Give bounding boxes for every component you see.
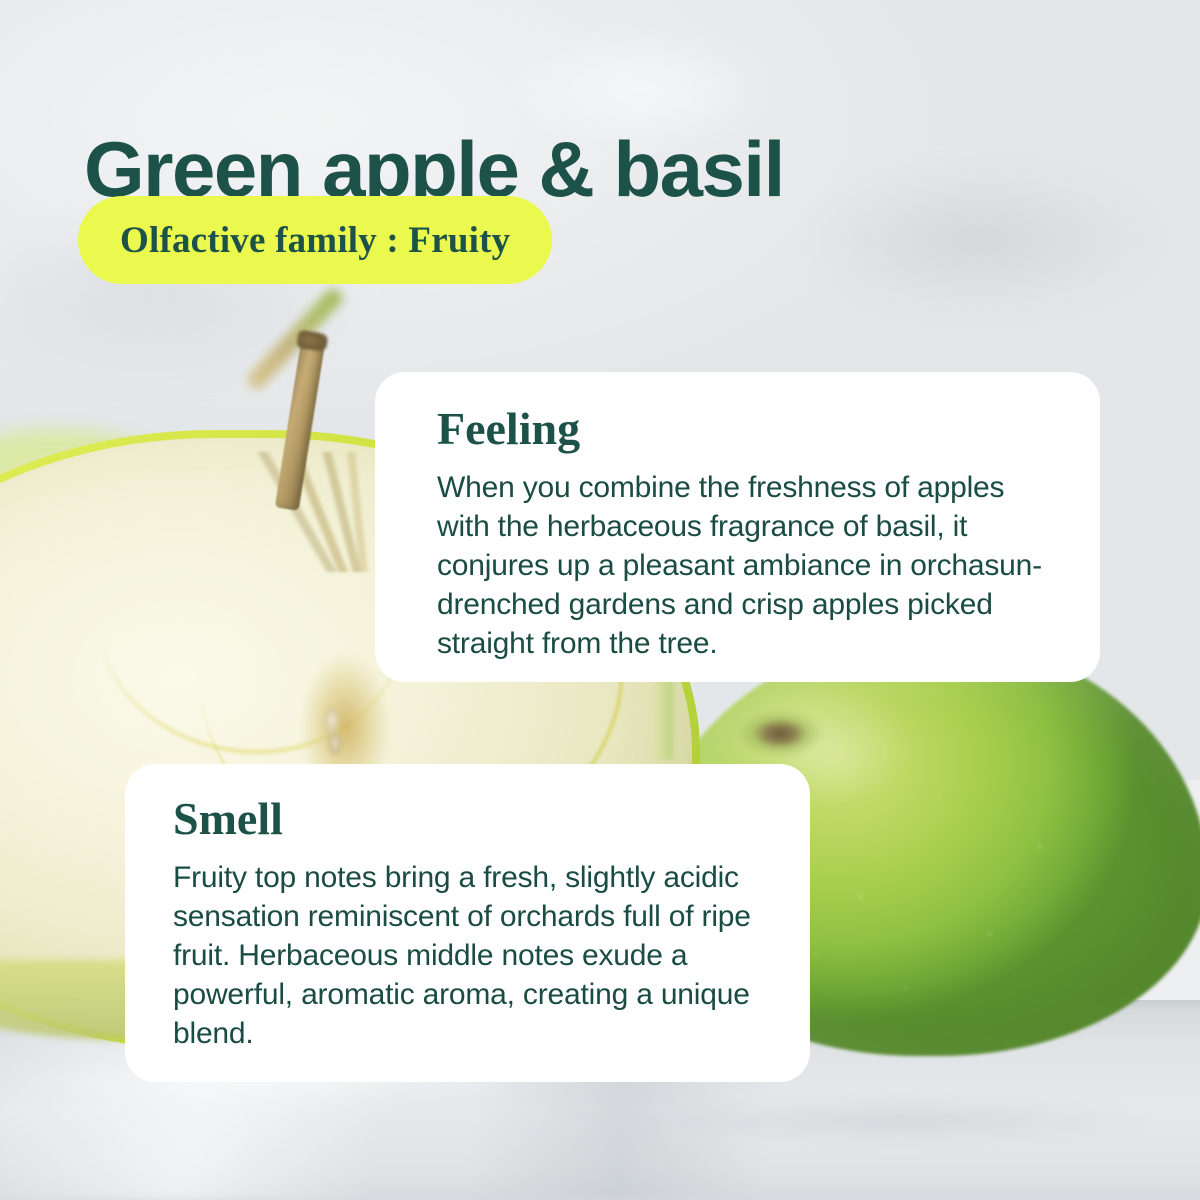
apple-seeds <box>312 700 354 760</box>
feeling-card: Feeling When you combine the freshness o… <box>375 372 1100 682</box>
smell-card-body: Fruity top notes bring a fresh, slightly… <box>173 858 770 1053</box>
olfactive-family-badge: Olfactive family : Fruity <box>78 196 552 284</box>
feeling-card-body: When you combine the freshness of apples… <box>437 468 1060 663</box>
smell-card-heading: Smell <box>173 796 770 842</box>
smell-card: Smell Fruity top notes bring a fresh, sl… <box>125 764 810 1082</box>
apple-calyx-icon <box>735 705 825 757</box>
feeling-card-heading: Feeling <box>437 406 1060 452</box>
poster: Green apple & basil Olfactive family : F… <box>0 0 1200 1200</box>
